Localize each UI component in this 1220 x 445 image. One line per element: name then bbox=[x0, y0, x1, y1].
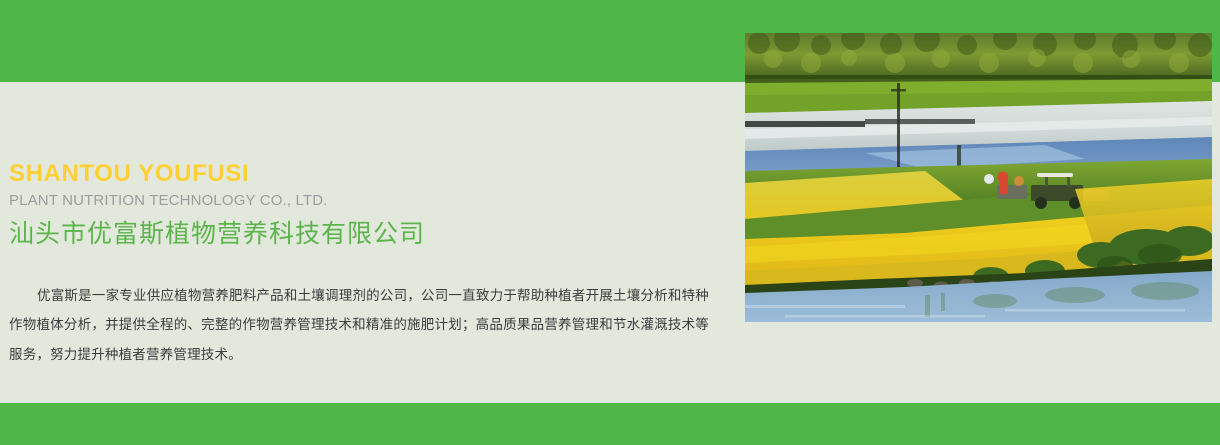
rice-paddy-photo bbox=[745, 33, 1212, 322]
bottom-green-band bbox=[0, 403, 1220, 445]
page-root: SHANTOU YOUFUSI PLANT NUTRITION TECHNOLO… bbox=[0, 0, 1220, 445]
company-intro-block: SHANTOU YOUFUSI PLANT NUTRITION TECHNOLO… bbox=[9, 160, 729, 370]
company-subtitle-english: PLANT NUTRITION TECHNOLOGY CO., LTD. bbox=[9, 190, 729, 212]
company-description-paragraph: 优富斯是一家专业供应植物营养肥料产品和土壤调理剂的公司，公司一直致力于帮助种植者… bbox=[9, 281, 709, 370]
company-name-english: SHANTOU YOUFUSI bbox=[9, 160, 729, 188]
rice-paddy-illustration bbox=[745, 33, 1212, 322]
company-name-chinese: 汕头市优富斯植物营养科技有限公司 bbox=[9, 218, 729, 251]
